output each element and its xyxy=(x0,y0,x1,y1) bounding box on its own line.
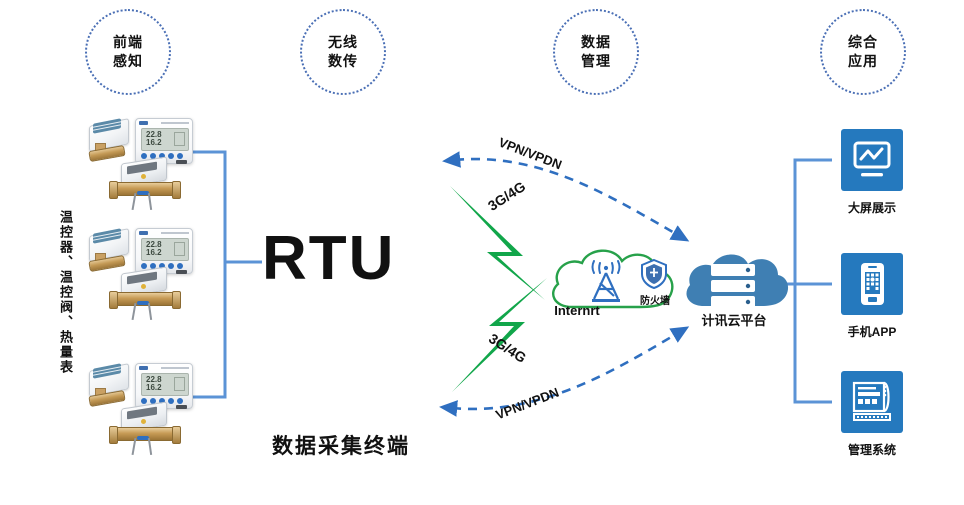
firewall-label: 防火墙 xyxy=(627,292,683,307)
app-tile-mobile-app[interactable] xyxy=(841,253,903,315)
firewall-shield-icon xyxy=(640,258,670,290)
phase-line-1: 综合 xyxy=(848,33,878,52)
phase-line-1: 数据 xyxy=(581,33,611,52)
phase-line-2: 应用 xyxy=(848,52,878,71)
app-label-mobile-app: 手机APP xyxy=(812,323,932,340)
thermostatic-valve-actuator-icon xyxy=(85,365,131,399)
app-tile-management-system[interactable] xyxy=(841,371,903,433)
phase-line-2: 数传 xyxy=(328,52,358,71)
management-document-icon xyxy=(841,371,903,433)
phase-line-1: 前端 xyxy=(113,33,143,52)
heat-meter-icon xyxy=(111,270,177,322)
device-group-3: 22.816.2 xyxy=(83,363,203,463)
network-topology-diagram: 前端 感知 无线 数传 数据 管理 综合 应用 温控器、温控阀、热量表 22.8… xyxy=(0,0,964,505)
thermostatic-valve-actuator-icon xyxy=(85,230,131,264)
internet-cloud-label: Internrt xyxy=(527,303,627,318)
monitor-chart-icon xyxy=(841,129,903,191)
heat-meter-icon xyxy=(111,160,177,212)
phase-line-2: 感知 xyxy=(113,52,143,71)
phase-line-1: 无线 xyxy=(328,33,358,52)
data-acquisition-terminal-caption: 数据采集终端 xyxy=(272,430,410,460)
left-axis-label: 温控器、温控阀、热量表 xyxy=(54,210,76,375)
phase-circle-front-end-sensing: 前端 感知 xyxy=(85,9,171,95)
app-tile-large-screen-display[interactable] xyxy=(841,129,903,191)
device-group-2: 22.816.2 xyxy=(83,228,203,328)
phase-circle-data-management: 数据 管理 xyxy=(553,9,639,95)
app-label-management-system: 管理系统 xyxy=(812,441,932,458)
thermostatic-valve-actuator-icon xyxy=(85,120,131,154)
cloud-platform-label: 计讯云平台 xyxy=(684,310,784,329)
device-group-1: 22.816.2 xyxy=(83,118,203,218)
phase-circle-integrated-application: 综合 应用 xyxy=(820,9,906,95)
mobile-phone-icon xyxy=(841,253,903,315)
phase-circle-wireless-transmission: 无线 数传 xyxy=(300,9,386,95)
app-label-large-screen-display: 大屏展示 xyxy=(812,199,932,216)
cloud-platform-icon xyxy=(678,244,788,320)
phase-line-2: 管理 xyxy=(581,52,611,71)
rtu-node-label: RTU xyxy=(262,228,395,290)
heat-meter-icon xyxy=(111,405,177,457)
